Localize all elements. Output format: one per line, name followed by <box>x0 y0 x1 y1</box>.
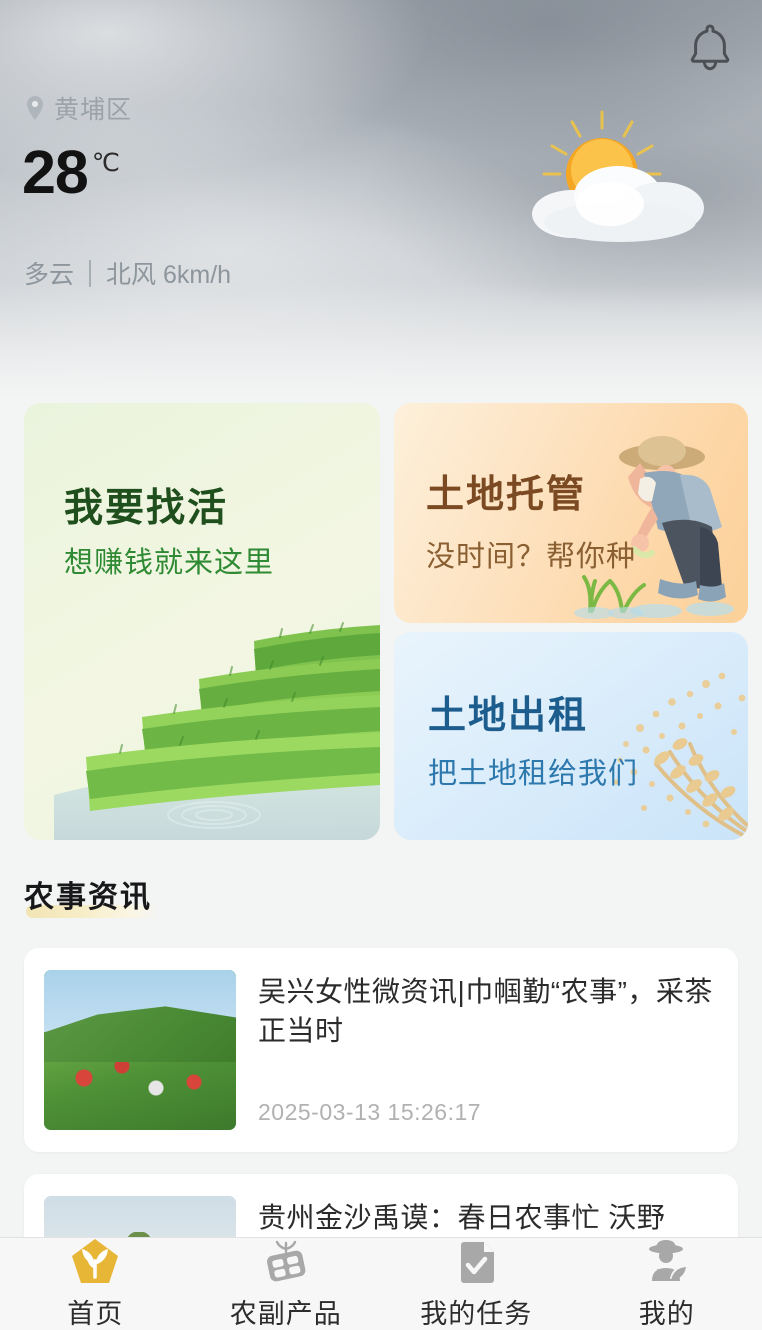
news-title: 吴兴女性微资讯|巾帼勤“农事”，采茶正当时 <box>258 972 718 1050</box>
condition-text: 多云 <box>24 255 74 291</box>
card-find-job[interactable]: 我要找活 想赚钱就来这里 <box>24 403 380 840</box>
card-land-trusteeship-title: 土地托管 <box>426 463 586 518</box>
farmer-profile-icon <box>640 1237 694 1287</box>
sprout-badge-icon <box>68 1237 122 1287</box>
card-land-rental-subtitle: 把土地租给我们 <box>428 750 638 792</box>
nav-label-produce: 农副产品 <box>230 1292 342 1330</box>
location-pin-icon <box>24 95 46 121</box>
nav-item-produce[interactable]: 农副产品 <box>191 1237 382 1330</box>
card-find-job-title: 我要找活 <box>64 477 228 533</box>
document-check-icon <box>449 1237 503 1287</box>
card-land-trusteeship-subtitle: 没时间？帮你种 <box>426 533 636 575</box>
temperature-display: 28 ℃ <box>22 146 120 198</box>
news-title: 贵州金沙禹谟：春日农事忙 沃野 <box>258 1198 718 1237</box>
app-screen: 黄埔区 28 ℃ 多云 北风 6km/h <box>0 0 762 1330</box>
news-content: 吴兴女性微资讯|巾帼勤“农事”，采茶正当时 2025-03-13 15:26:1… <box>258 970 718 1130</box>
news-section-header: 农事资讯 <box>24 872 152 916</box>
card-land-trusteeship[interactable]: 土地托管 没时间？帮你种 <box>394 403 748 623</box>
card-land-rental[interactable]: 土地出租 把土地租给我们 <box>394 632 748 840</box>
card-land-rental-title: 土地出租 <box>428 684 588 739</box>
quick-action-cards: 我要找活 想赚钱就来这里 <box>24 403 748 840</box>
nav-label-profile: 我的 <box>639 1292 695 1330</box>
nav-label-tasks: 我的任务 <box>420 1292 532 1330</box>
news-section-title: 农事资讯 <box>24 872 152 916</box>
bottom-navigation: 首页 农副产品 <box>0 1237 762 1330</box>
temperature-value: 28 <box>22 146 88 198</box>
sun-behind-cloud-icon <box>510 108 736 248</box>
card-find-job-subtitle: 想赚钱就来这里 <box>64 539 274 581</box>
cards-right-column: 土地托管 没时间？帮你种 <box>394 403 748 840</box>
temperature-unit: ℃ <box>92 148 120 178</box>
nav-item-home[interactable]: 首页 <box>0 1237 191 1330</box>
nav-item-profile[interactable]: 我的 <box>572 1237 762 1330</box>
location-name: 黄埔区 <box>54 90 132 126</box>
bell-icon[interactable] <box>681 17 739 75</box>
divider <box>89 260 91 287</box>
produce-basket-icon <box>259 1237 313 1287</box>
nav-item-tasks[interactable]: 我的任务 <box>381 1237 572 1330</box>
wind-text: 北风 6km/h <box>106 255 231 291</box>
weather-hero: 黄埔区 28 ℃ 多云 北风 6km/h <box>0 0 762 404</box>
news-item[interactable]: 吴兴女性微资讯|巾帼勤“农事”，采茶正当时 2025-03-13 15:26:1… <box>24 948 738 1152</box>
news-thumbnail <box>44 970 236 1130</box>
nav-label-home: 首页 <box>67 1292 123 1330</box>
cards-left-column: 我要找活 想赚钱就来这里 <box>24 403 380 840</box>
weather-condition-row: 多云 北风 6km/h <box>24 255 231 291</box>
news-date: 2025-03-13 15:26:17 <box>258 1099 718 1130</box>
location-row[interactable]: 黄埔区 <box>24 90 132 126</box>
terraced-field-illustration <box>24 403 380 840</box>
